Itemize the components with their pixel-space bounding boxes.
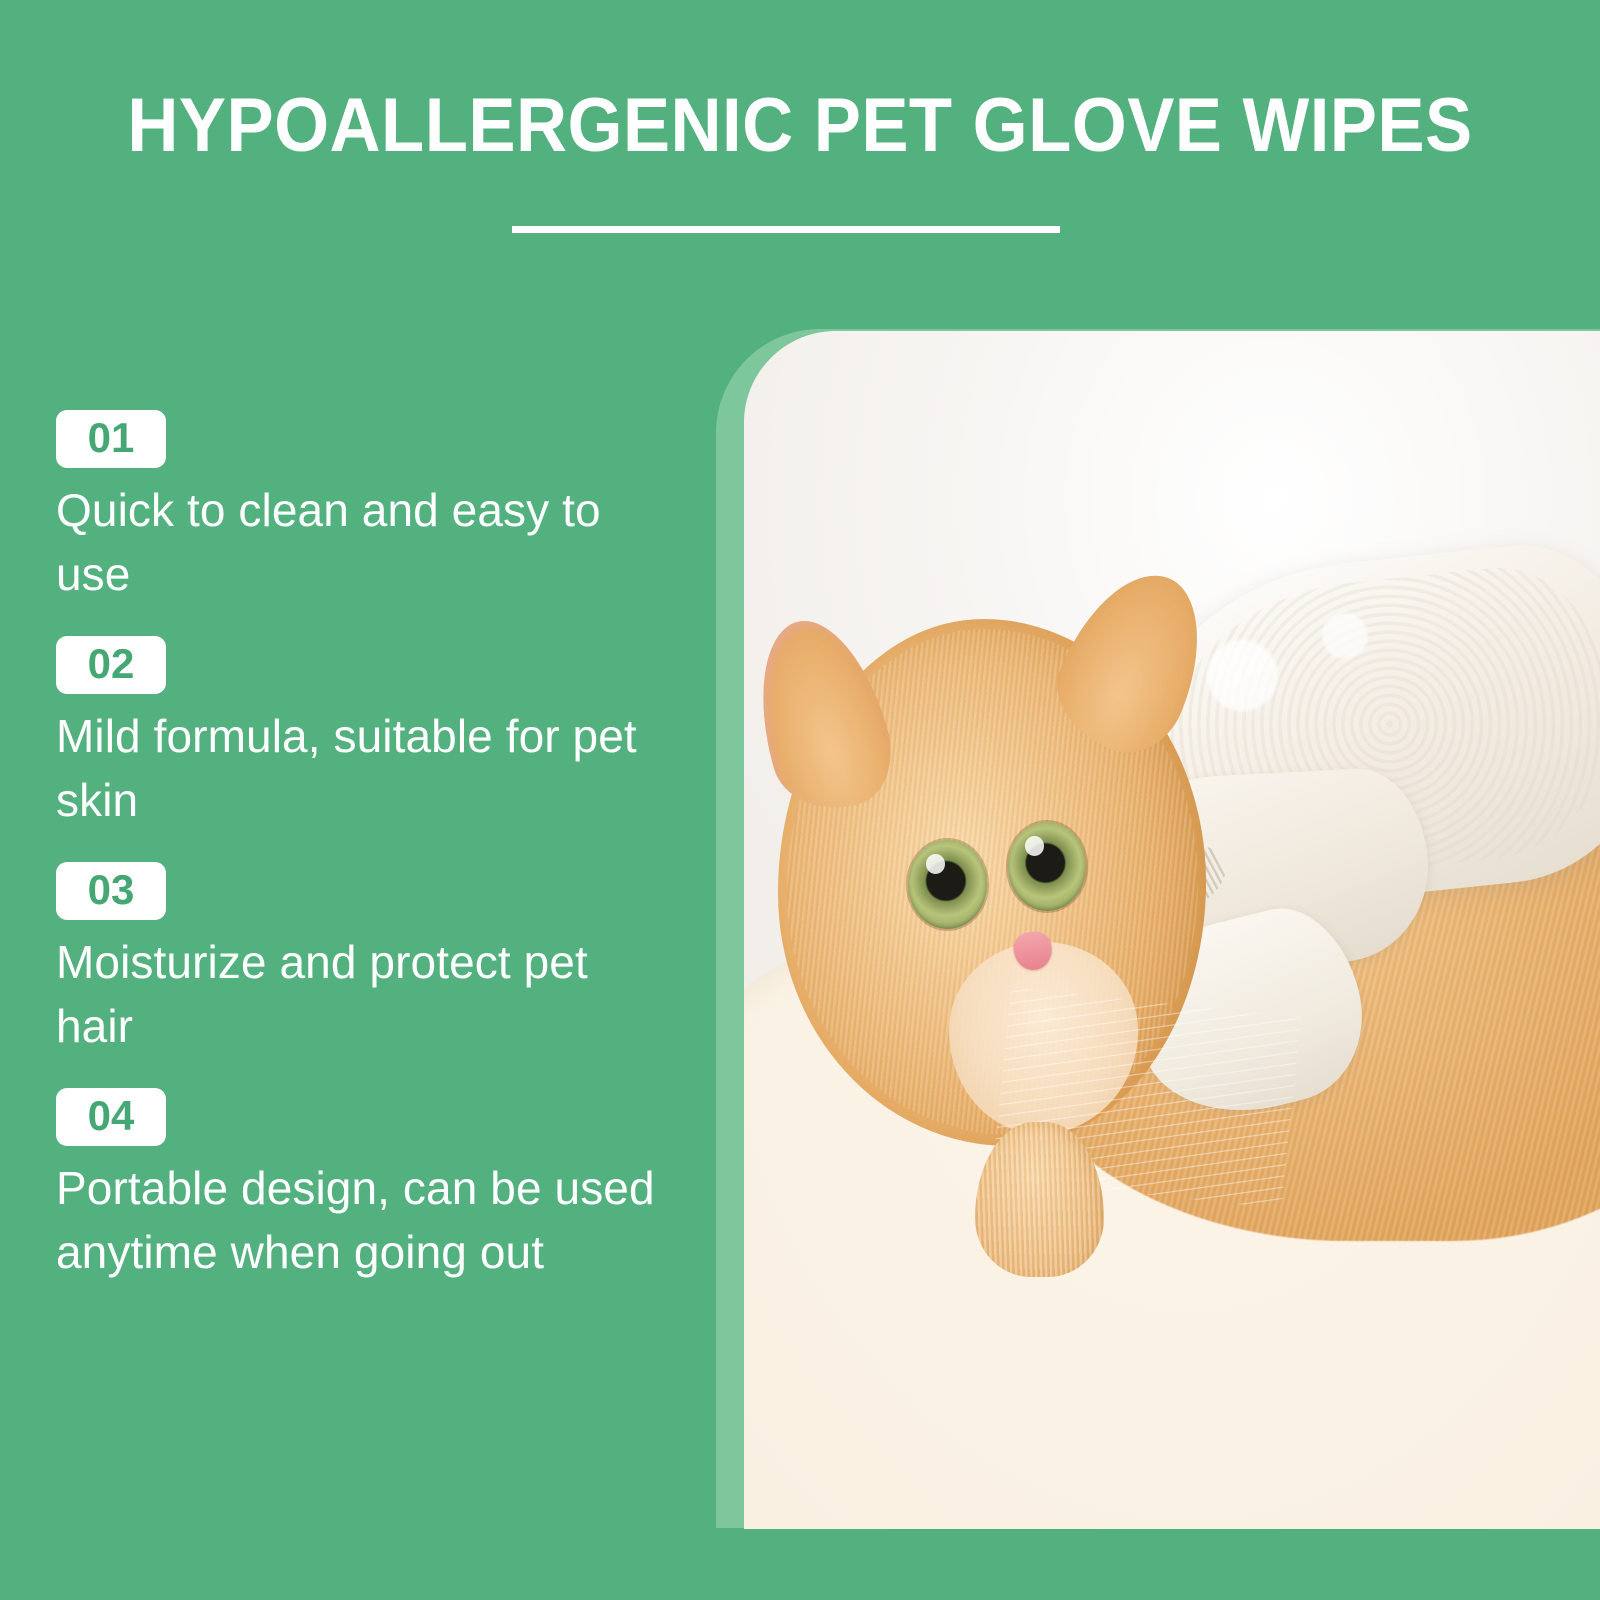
- product-feature-poster: HYPOALLERGENIC PET GLOVE WIPES 01 Quick …: [0, 0, 1600, 1600]
- feature-number-badge: 04: [56, 1088, 166, 1146]
- list-item: 02 Mild formula, suitable for pet skin: [56, 636, 666, 832]
- photo-scene: [744, 331, 1600, 1529]
- feature-description: Portable design, can be used anytime whe…: [56, 1156, 656, 1284]
- feature-description: Quick to clean and easy to use: [56, 478, 656, 606]
- feature-list: 01 Quick to clean and easy to use 02 Mil…: [56, 410, 666, 1284]
- cat-eye-left: [908, 840, 987, 929]
- feature-number-badge: 03: [56, 862, 166, 920]
- product-photo: [744, 331, 1600, 1529]
- cat-eye-right: [1008, 822, 1087, 911]
- list-item: 03 Moisturize and protect pet hair: [56, 862, 666, 1058]
- feature-description: Mild formula, suitable for pet skin: [56, 704, 656, 832]
- feature-number-badge: 02: [56, 636, 166, 694]
- feature-number-badge: 01: [56, 410, 166, 468]
- title-divider: [512, 226, 1060, 233]
- list-item: 04 Portable design, can be used anytime …: [56, 1088, 666, 1284]
- feature-description: Moisturize and protect pet hair: [56, 930, 656, 1058]
- page-title: HYPOALLERGENIC PET GLOVE WIPES: [56, 88, 1544, 164]
- list-item: 01 Quick to clean and easy to use: [56, 410, 666, 606]
